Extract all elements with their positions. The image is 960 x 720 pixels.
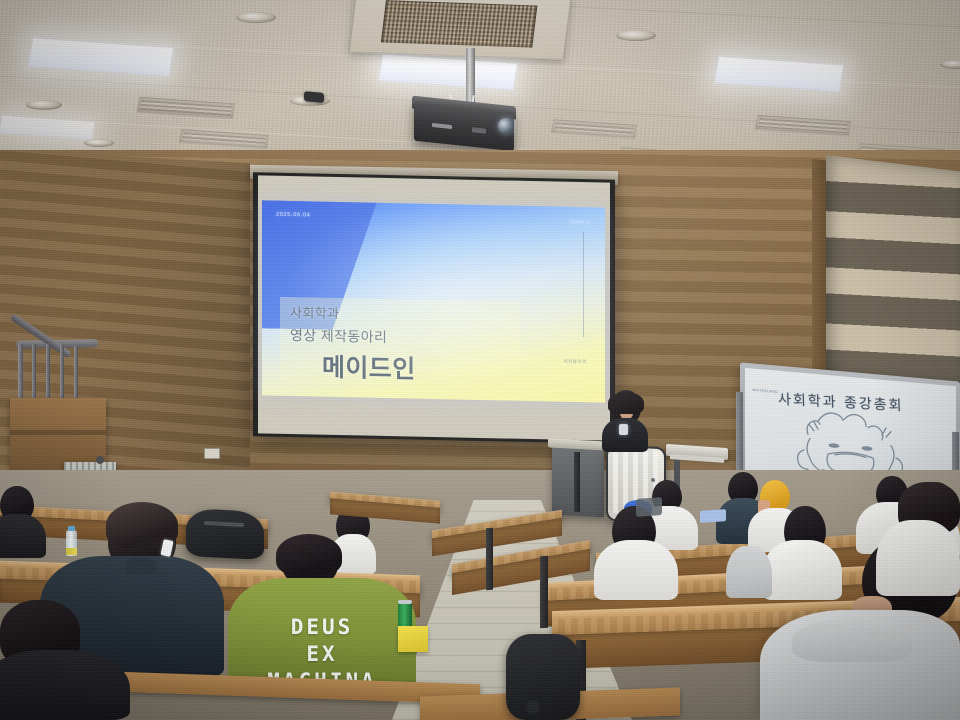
polo-collar [126, 558, 156, 574]
radiator-valve [96, 456, 104, 464]
student-body [594, 540, 678, 600]
student-body [876, 520, 960, 596]
ceiling-spotlight [236, 12, 276, 23]
ac-grille [381, 0, 538, 47]
ceiling-spotlight [84, 139, 114, 147]
slide-line-1: 사회학과 [290, 302, 339, 322]
stair-baluster [46, 344, 50, 400]
slide-line-3-title: 메이드인 [322, 348, 416, 386]
slide-credit: 제작동아리 [563, 359, 587, 365]
slide-vertical-rule [583, 232, 584, 337]
backpack-logo [526, 700, 540, 714]
stair-panel-groove [10, 430, 106, 435]
hoodie-hood [792, 618, 912, 662]
student-body-gray [726, 546, 772, 598]
stair-baluster [60, 345, 64, 399]
ceiling-spotlight [616, 30, 656, 41]
shirt-graphic-text: DEUS EX MACHINA [256, 614, 388, 668]
student-body [762, 540, 842, 600]
stair-baluster [74, 346, 78, 398]
black-backpack-on-desk [186, 508, 264, 560]
desk-leg [540, 556, 548, 629]
bottle-label [66, 548, 77, 555]
student-hair [276, 534, 342, 576]
can-lid [398, 600, 412, 604]
stair-baluster [32, 344, 36, 402]
yellow-paper-bag [398, 626, 428, 652]
slide-line-2: 영상 제작동아리 [290, 325, 387, 347]
lectern-post [574, 452, 580, 512]
stair-baluster [18, 344, 23, 404]
av-cabinet-handle[interactable] [651, 478, 655, 482]
projected-slide: 2025.06.04 made in 사회학과 영상 제작동아리 메이드인 제작… [262, 200, 605, 402]
desk-leg [486, 528, 493, 590]
ceiling-spotlight [26, 100, 62, 110]
student-body [0, 650, 130, 720]
slide-corner-label: made in [570, 219, 591, 224]
notebook-on-desk [700, 509, 726, 523]
bottle-cap [68, 526, 75, 531]
student-body [0, 514, 46, 558]
backpack-on-floor [506, 634, 580, 720]
projector-lens [498, 118, 514, 134]
ceiling-speaker [304, 91, 324, 103]
lecture-hall-photo: 2025.06.04 made in 사회학과 영상 제작동아리 메이드인 제작… [0, 0, 960, 720]
presenter-phone [619, 424, 628, 435]
wall-outlet[interactable] [204, 448, 220, 459]
chair-back [636, 497, 662, 517]
slide-date: 2025.06.04 [276, 212, 311, 219]
presenter-hair [608, 392, 644, 414]
shirt-text-line-1: DEUS [291, 615, 354, 639]
air-conditioner-unit [349, 0, 572, 60]
